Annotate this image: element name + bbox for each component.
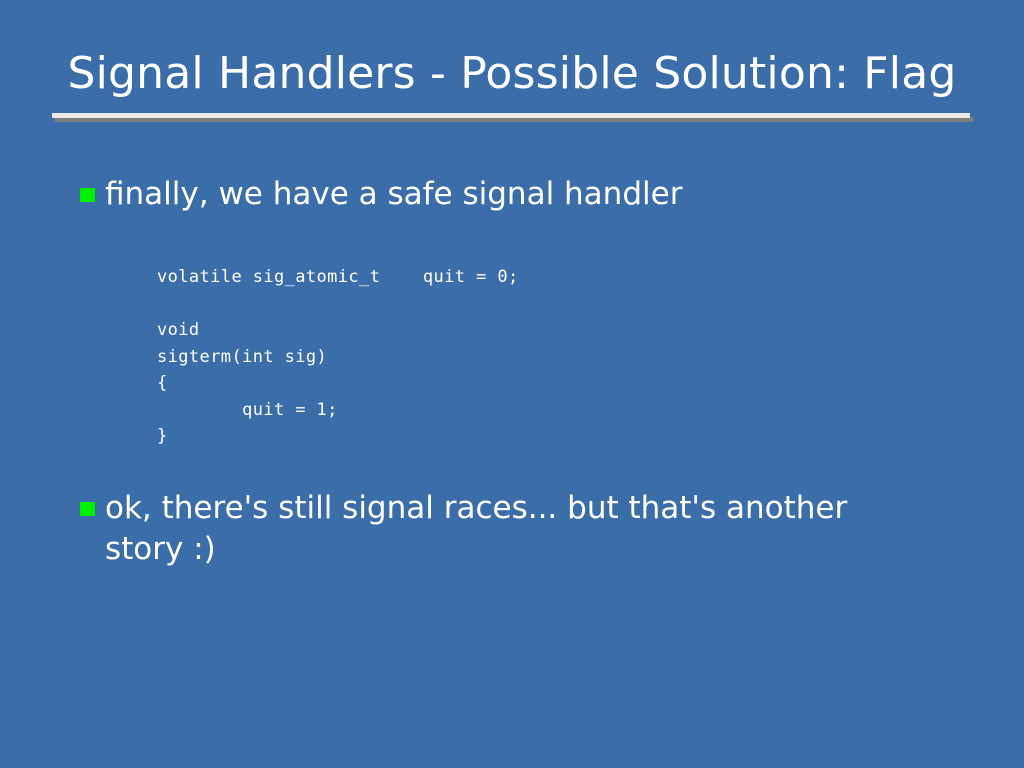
code-line-3: void (157, 317, 519, 344)
page-title: Signal Handlers - Possible Solution: Fla… (67, 48, 956, 100)
green-square-bullet-icon (80, 188, 95, 202)
code-line-1: volatile sig_atomic_t quit = 0; (157, 264, 519, 291)
code-line-5: { (157, 370, 519, 397)
slide: Signal Handlers - Possible Solution: Fla… (0, 0, 1024, 768)
title-rule-bar (52, 113, 970, 118)
bullet-item-1-label: finally, we have a safe signal handler (105, 174, 682, 215)
code-line-4: sigterm(int sig) (157, 344, 519, 371)
green-square-bullet-icon (80, 502, 95, 516)
code-line-7: } (157, 423, 519, 450)
bullet-item-2: ok, there's still signal races... but th… (80, 488, 880, 570)
bullet-item-1: finally, we have a safe signal handler (80, 174, 940, 215)
title-underline-rule (52, 113, 970, 123)
bullet-item-2-label: ok, there's still signal races... but th… (105, 488, 880, 570)
code-block: volatile sig_atomic_t quit = 0;voidsigte… (157, 264, 519, 450)
code-line-blank (157, 291, 519, 318)
title-area: Signal Handlers - Possible Solution: Fla… (0, 48, 1024, 100)
code-line-6: quit = 1; (157, 397, 519, 424)
